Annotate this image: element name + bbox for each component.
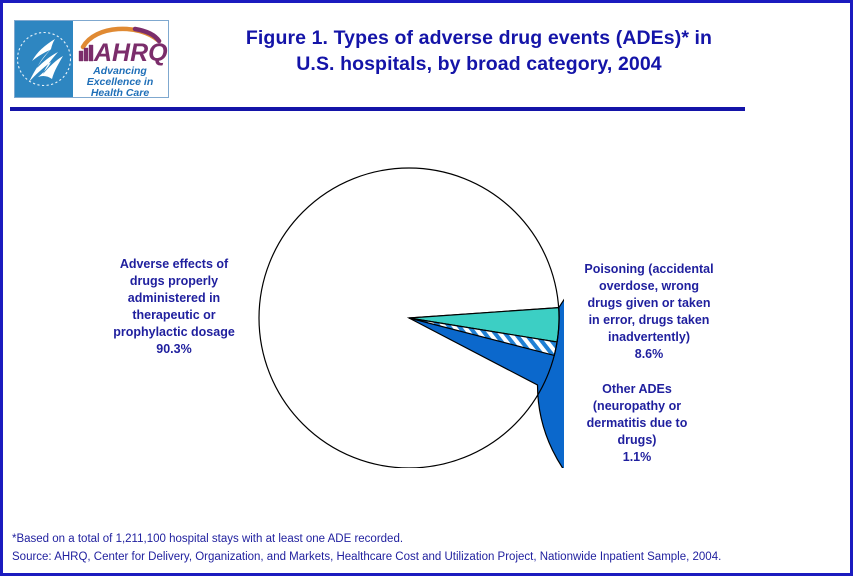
- page-title: Figure 1. Types of adverse drug events (…: [179, 25, 779, 77]
- pie-chart: [254, 158, 564, 468]
- figure-footer: *Based on a total of 1,211,100 hospital …: [12, 530, 844, 566]
- slice-label-other-ades: Other ADEs (neuropathy or dermatitis due…: [554, 381, 720, 466]
- pie-chart-area: Adverse effects of drugs properly admini…: [3, 115, 850, 520]
- ahrq-wordmark: AHRQ Advancing Excellence in Health Care: [73, 21, 168, 97]
- figure-title-line-2: U.S. hospitals, by broad category, 2004: [179, 51, 779, 77]
- ahrq-hhs-logo: AHRQ Advancing Excellence in Health Care: [14, 20, 169, 98]
- slice-label-poisoning: Poisoning (accidental overdose, wrong dr…: [554, 261, 744, 363]
- figure-title-line-1: Figure 1. Types of adverse drug events (…: [179, 25, 779, 51]
- footnote-text: *Based on a total of 1,211,100 hospital …: [12, 530, 844, 548]
- figure-header: AHRQ Advancing Excellence in Health Care…: [3, 3, 850, 107]
- header-divider: [10, 107, 745, 111]
- source-text: Source: AHRQ, Center for Delivery, Organ…: [12, 548, 844, 566]
- svg-text:AHRQ: AHRQ: [93, 39, 168, 67]
- hhs-seal-icon: [15, 21, 73, 97]
- figure-page: AHRQ Advancing Excellence in Health Care…: [0, 0, 853, 576]
- svg-text:Health Care: Health Care: [91, 87, 150, 97]
- slice-label-adverse-effects: Adverse effects of drugs properly admini…: [85, 256, 263, 358]
